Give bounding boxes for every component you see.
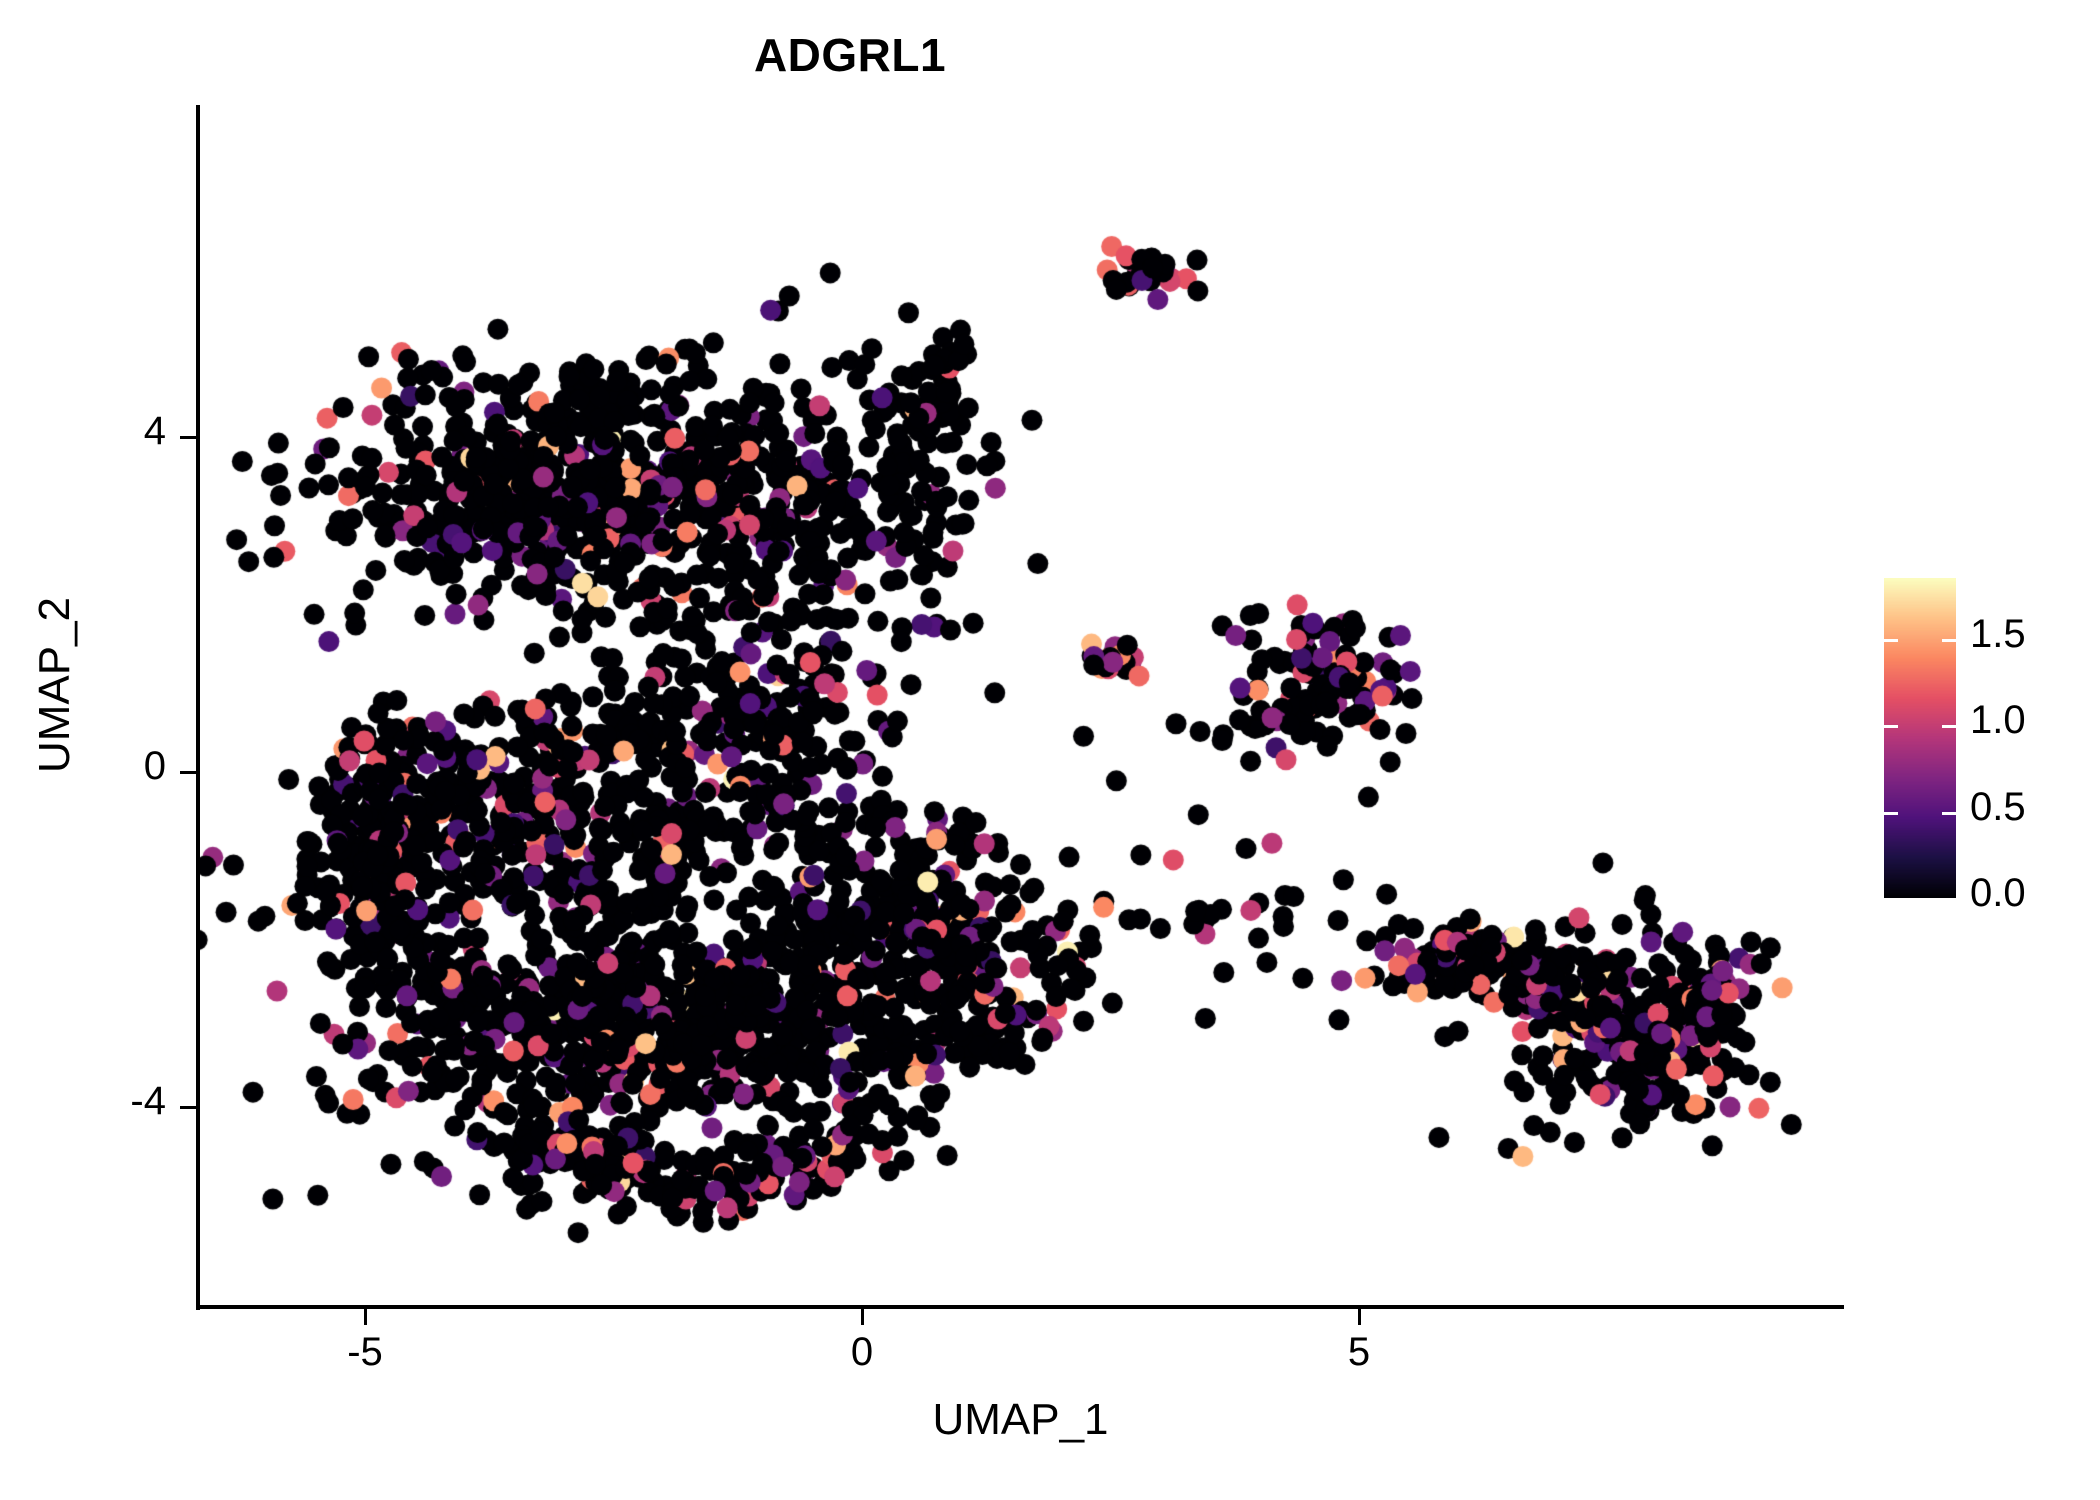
x-tick-label: 0 xyxy=(782,1330,942,1375)
x-tick-mark xyxy=(1358,1309,1361,1325)
y-tick-mark xyxy=(180,436,196,439)
colorbar-tick-label: 0.5 xyxy=(1970,785,2026,830)
colorbar-tick-mark xyxy=(1884,725,1898,728)
colorbar-tick-label: 1.0 xyxy=(1970,698,2026,743)
colorbar-tick-label: 0.0 xyxy=(1970,871,2026,916)
y-axis-title: UMAP_2 xyxy=(30,425,80,945)
y-tick-label: 4 xyxy=(0,409,166,454)
x-tick-mark xyxy=(364,1309,367,1325)
x-tick-label: 5 xyxy=(1279,1330,1439,1375)
x-axis-line xyxy=(196,1305,1844,1309)
y-tick-mark xyxy=(180,1106,196,1109)
colorbar-tick-mark xyxy=(1884,639,1898,642)
colorbar-tick-label: 1.5 xyxy=(1970,612,2026,657)
y-tick-label: 0 xyxy=(0,744,166,789)
page-title: ADGRL1 xyxy=(0,28,1700,82)
colorbar-tick-mark xyxy=(1884,812,1898,815)
colorbar-gradient xyxy=(1884,578,1956,898)
colorbar-legend: 1.51.00.50.0 xyxy=(1884,578,2064,900)
x-axis-title: UMAP_1 xyxy=(198,1395,1843,1445)
colorbar-tick-mark xyxy=(1884,898,1898,901)
y-tick-label: -4 xyxy=(0,1079,166,1124)
colorbar-tick-mark xyxy=(1942,898,1956,901)
x-tick-mark xyxy=(861,1309,864,1325)
scatter-plot-canvas xyxy=(198,105,1843,1308)
plot-panel xyxy=(198,105,1843,1308)
y-axis-line xyxy=(196,105,200,1310)
colorbar-tick-mark xyxy=(1942,639,1956,642)
y-tick-mark xyxy=(180,771,196,774)
chart-root: ADGRL1 -505 40-4 UMAP_1 UMAP_2 1.51.00.5… xyxy=(0,0,2100,1500)
x-tick-label: -5 xyxy=(285,1330,445,1375)
colorbar-tick-mark xyxy=(1942,812,1956,815)
colorbar-tick-mark xyxy=(1942,725,1956,728)
